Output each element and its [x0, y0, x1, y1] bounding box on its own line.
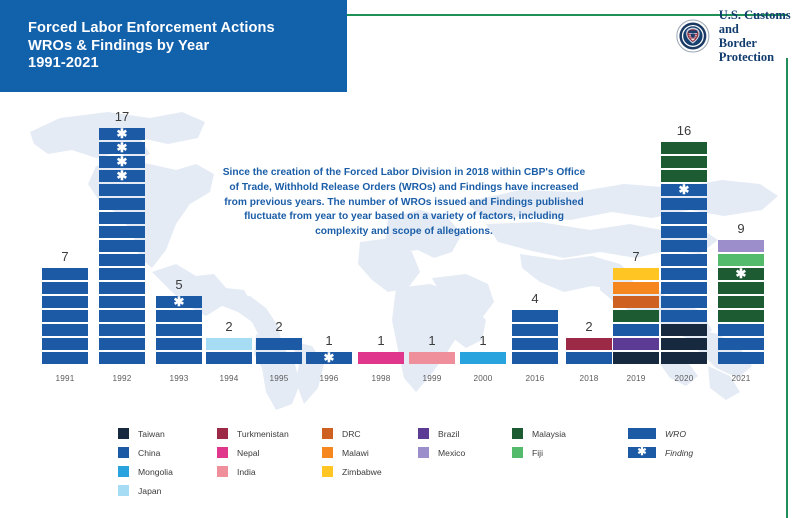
segment-stack-1995 — [256, 338, 302, 364]
column-total-1995: 2 — [275, 320, 282, 333]
segment-china-wro[interactable] — [156, 324, 202, 336]
segment-china-wro[interactable] — [99, 310, 145, 322]
legend-swatch-brazil — [418, 428, 429, 439]
segment-china-wro[interactable] — [99, 254, 145, 266]
column-total-2018: 2 — [585, 320, 592, 333]
segment-china-wro[interactable] — [156, 352, 202, 364]
segment-malaysia-wro[interactable] — [661, 142, 707, 154]
column-total-2019: 7 — [632, 250, 639, 263]
year-label-2018: 2018 — [566, 374, 612, 383]
year-column-1999[interactable]: 1 — [409, 334, 455, 364]
segment-china-wro[interactable] — [42, 324, 88, 336]
column-total-2016: 4 — [531, 292, 538, 305]
year-column-1995[interactable]: 2 — [256, 320, 302, 364]
segment-drc-wro[interactable] — [613, 296, 659, 308]
segment-china-wro[interactable] — [661, 254, 707, 266]
legend-label-turkmenistan: Turkmenistan — [237, 429, 289, 439]
finding-asterisk-icon: ✱ — [99, 128, 145, 140]
legend-swatch-china — [118, 447, 129, 458]
year-column-2000[interactable]: 1 — [460, 334, 506, 364]
legend-label-mexico: Mexico — [438, 448, 465, 458]
legend-label-taiwan: Taiwan — [138, 429, 165, 439]
legend-item-turkmenistan[interactable]: Turkmenistan — [217, 424, 289, 443]
segment-japan-wro[interactable] — [206, 338, 252, 350]
finding-asterisk-icon: ✱ — [99, 170, 145, 182]
legend-label-india: India — [237, 467, 256, 477]
segment-malawi-wro[interactable] — [613, 282, 659, 294]
segment-china-wro[interactable] — [99, 226, 145, 238]
legend-column-4: BrazilMexico — [418, 424, 465, 462]
year-label-1995: 1995 — [256, 374, 302, 383]
segment-mongolia-wro[interactable] — [460, 352, 506, 364]
legend-item-malawi[interactable]: Malawi — [322, 443, 382, 462]
column-total-1994: 2 — [225, 320, 232, 333]
legend-item-brazil[interactable]: Brazil — [418, 424, 465, 443]
segment-stack-2020: ✱ — [661, 142, 707, 364]
segment-china-wro[interactable] — [256, 338, 302, 350]
segment-china-wro[interactable] — [99, 324, 145, 336]
segment-malaysia-wro[interactable] — [718, 310, 764, 322]
legend-item-mongolia[interactable]: Mongolia — [118, 462, 173, 481]
legend-label-malaysia: Malaysia — [532, 429, 566, 439]
segment-china-finding[interactable]: ✱ — [306, 352, 352, 364]
legend-label-brazil: Brazil — [438, 429, 460, 439]
year-column-1998[interactable]: 1 — [358, 334, 404, 364]
segment-china-wro[interactable] — [99, 282, 145, 294]
column-total-1998: 1 — [377, 334, 384, 347]
legend-item-japan[interactable]: Japan — [118, 481, 173, 500]
segment-china-wro[interactable] — [512, 310, 558, 322]
year-column-2020[interactable]: 16✱ — [661, 124, 707, 364]
year-label-2021: 2021 — [718, 374, 764, 383]
segment-china-wro[interactable] — [512, 324, 558, 336]
finding-asterisk-icon: ✱ — [156, 296, 202, 308]
segment-nepal-wro[interactable] — [358, 352, 404, 364]
year-label-1999: 1999 — [409, 374, 455, 383]
year-label-2016: 2016 — [512, 374, 558, 383]
segment-mexico-wro[interactable] — [718, 240, 764, 252]
year-label-1991: 1991 — [42, 374, 88, 383]
year-column-1993[interactable]: 5✱ — [156, 278, 202, 364]
segment-malaysia-wro[interactable] — [718, 296, 764, 308]
legend-label-zimbabwe: Zimbabwe — [342, 467, 382, 477]
page-title: Forced Labor Enforcement Actions WROs & … — [28, 20, 275, 73]
segment-china-wro[interactable] — [661, 212, 707, 224]
legend-swatch-mongolia — [118, 466, 129, 477]
segment-china-wro[interactable] — [156, 310, 202, 322]
segment-china-wro[interactable] — [661, 198, 707, 210]
segment-china-wro[interactable] — [99, 184, 145, 196]
segment-china-wro[interactable] — [661, 268, 707, 280]
segment-stack-2000 — [460, 352, 506, 364]
legend-swatch-india — [217, 466, 228, 477]
year-column-2019[interactable]: 7 — [613, 250, 659, 364]
year-column-1991[interactable]: 7 — [42, 250, 88, 364]
column-total-1991: 7 — [61, 250, 68, 263]
legend-swatch-turkmenistan — [217, 428, 228, 439]
legend-label-fiji: Fiji — [532, 448, 543, 458]
legend-swatch-wro — [628, 428, 656, 439]
segment-stack-1991 — [42, 268, 88, 364]
segment-china-wro[interactable] — [661, 240, 707, 252]
segment-china-wro[interactable] — [99, 198, 145, 210]
column-total-2000: 1 — [479, 334, 486, 347]
segment-malaysia-wro[interactable] — [718, 282, 764, 294]
segment-china-wro[interactable] — [512, 338, 558, 350]
segment-taiwan-wro[interactable] — [661, 338, 707, 350]
year-label-1998: 1998 — [358, 374, 404, 383]
legend-label-japan: Japan — [138, 486, 161, 496]
legend-item-zimbabwe[interactable]: Zimbabwe — [322, 462, 382, 481]
segment-china-wro[interactable] — [99, 240, 145, 252]
segment-china-wro[interactable] — [718, 324, 764, 336]
legend-column-2: TurkmenistanNepalIndia — [217, 424, 289, 481]
title-block: Forced Labor Enforcement Actions WROs & … — [0, 0, 347, 92]
segment-china-wro[interactable] — [206, 352, 252, 364]
finding-asterisk-icon: ✱ — [718, 268, 764, 280]
year-label-1992: 1992 — [99, 374, 145, 383]
segment-stack-2019 — [613, 268, 659, 364]
callout-text: Since the creation of the Forced Labor D… — [218, 166, 590, 240]
legend-item-china[interactable]: China — [118, 443, 173, 462]
segment-taiwan-wro[interactable] — [613, 352, 659, 364]
segment-china-finding[interactable]: ✱ — [99, 128, 145, 140]
segment-china-wro[interactable] — [99, 338, 145, 350]
legend-item-finding[interactable]: ✱Finding — [628, 443, 693, 462]
cbp-logo: U.S. Customs and Border Protection — [676, 8, 800, 64]
legend-swatch-fiji — [512, 447, 523, 458]
green-rule-right — [786, 58, 788, 518]
segment-taiwan-wro[interactable] — [661, 324, 707, 336]
segment-china-wro[interactable] — [613, 324, 659, 336]
segment-zimbabwe-wro[interactable] — [613, 268, 659, 280]
cbp-wordmark: U.S. Customs and Border Protection — [719, 8, 800, 64]
segment-china-wro[interactable] — [718, 352, 764, 364]
segment-china-finding[interactable]: ✱ — [661, 184, 707, 196]
segment-china-wro[interactable] — [42, 282, 88, 294]
finding-asterisk-icon: ✱ — [99, 156, 145, 168]
segment-stack-1994 — [206, 338, 252, 364]
segment-stack-2016 — [512, 310, 558, 364]
year-column-1996[interactable]: 1✱ — [306, 334, 352, 364]
segment-china-wro[interactable] — [42, 296, 88, 308]
chart-legend: TaiwanChinaMongoliaJapanTurkmenistanNepa… — [0, 424, 800, 504]
finding-asterisk-icon: ✱ — [306, 352, 352, 364]
segment-stack-1999 — [409, 352, 455, 364]
year-label-2020: 2020 — [661, 374, 707, 383]
segment-stack-1993: ✱ — [156, 296, 202, 364]
segment-turkmenistan-wro[interactable] — [566, 338, 612, 350]
segment-china-finding[interactable]: ✱ — [156, 296, 202, 308]
legend-column-3: DRCMalawiZimbabwe — [322, 424, 382, 481]
year-label-2019: 2019 — [613, 374, 659, 383]
year-column-2016[interactable]: 4 — [512, 292, 558, 364]
segment-malaysia-finding[interactable]: ✱ — [718, 268, 764, 280]
legend-label-finding: Finding — [665, 448, 693, 458]
segment-china-wro[interactable] — [99, 296, 145, 308]
legend-label-nepal: Nepal — [237, 448, 259, 458]
legend-item-taiwan[interactable]: Taiwan — [118, 424, 173, 443]
segment-taiwan-wro[interactable] — [661, 352, 707, 364]
year-label-2000: 2000 — [460, 374, 506, 383]
legend-label-china: China — [138, 448, 160, 458]
segment-china-wro[interactable] — [99, 268, 145, 280]
column-total-2020: 16 — [677, 124, 691, 137]
finding-asterisk-icon: ✱ — [628, 447, 656, 458]
segment-china-finding[interactable]: ✱ — [99, 156, 145, 168]
legend-swatch-nepal — [217, 447, 228, 458]
year-column-1994[interactable]: 2 — [206, 320, 252, 364]
segment-stack-1992: ✱✱✱✱ — [99, 128, 145, 364]
column-total-1999: 1 — [428, 334, 435, 347]
legend-swatch-drc — [322, 428, 333, 439]
legend-swatch-mexico — [418, 447, 429, 458]
legend-item-drc[interactable]: DRC — [322, 424, 382, 443]
segment-stack-2018 — [566, 338, 612, 364]
column-total-1992: 17 — [115, 110, 129, 123]
legend-item-malaysia[interactable]: Malaysia — [512, 424, 566, 443]
legend-item-wro[interactable]: WRO — [628, 424, 693, 443]
legend-item-fiji[interactable]: Fiji — [512, 443, 566, 462]
legend-item-nepal[interactable]: Nepal — [217, 443, 289, 462]
infographic-canvas: Forced Labor Enforcement Actions WROs & … — [0, 0, 800, 518]
segment-stack-1996: ✱ — [306, 352, 352, 364]
column-total-1993: 5 — [175, 278, 182, 291]
segment-china-wro[interactable] — [256, 352, 302, 364]
legend-swatch-japan — [118, 485, 129, 496]
segment-china-wro[interactable] — [42, 310, 88, 322]
year-column-1992[interactable]: 17✱✱✱✱ — [99, 110, 145, 364]
legend-swatch-taiwan — [118, 428, 129, 439]
legend-column-5: MalaysiaFiji — [512, 424, 566, 462]
segment-brazil-wro[interactable] — [613, 338, 659, 350]
year-column-2018[interactable]: 2 — [566, 320, 612, 364]
segment-china-wro[interactable] — [42, 268, 88, 280]
column-total-1996: 1 — [325, 334, 332, 347]
segment-china-wro[interactable] — [661, 282, 707, 294]
segment-china-wro[interactable] — [99, 352, 145, 364]
segment-malaysia-wro[interactable] — [661, 156, 707, 168]
column-total-2021: 9 — [737, 222, 744, 235]
segment-china-wro[interactable] — [42, 338, 88, 350]
legend-label-drc: DRC — [342, 429, 361, 439]
segment-china-wro[interactable] — [718, 338, 764, 350]
legend-label-wro: WRO — [665, 429, 686, 439]
legend-item-india[interactable]: India — [217, 462, 289, 481]
segment-china-wro[interactable] — [566, 352, 612, 364]
finding-asterisk-icon: ✱ — [661, 184, 707, 196]
segment-china-wro[interactable] — [661, 296, 707, 308]
finding-asterisk-icon: ✱ — [99, 142, 145, 154]
segment-stack-1998 — [358, 352, 404, 364]
legend-swatch-malawi — [322, 447, 333, 458]
legend-swatch-malaysia — [512, 428, 523, 439]
segment-stack-2021: ✱ — [718, 240, 764, 364]
legend-column-1: TaiwanChinaMongoliaJapan — [118, 424, 173, 500]
segment-malaysia-wro[interactable] — [613, 310, 659, 322]
segment-india-wro[interactable] — [409, 352, 455, 364]
segment-china-wro[interactable] — [42, 352, 88, 364]
segment-china-wro[interactable] — [661, 310, 707, 322]
segment-china-wro[interactable] — [512, 352, 558, 364]
legend-swatch-finding: ✱ — [628, 447, 656, 458]
segment-fiji-wro[interactable] — [718, 254, 764, 266]
segment-china-wro[interactable] — [99, 212, 145, 224]
segment-china-wro[interactable] — [156, 338, 202, 350]
year-label-1996: 1996 — [306, 374, 352, 383]
legend-label-mongolia: Mongolia — [138, 467, 173, 477]
year-column-2021[interactable]: 9✱ — [718, 222, 764, 364]
segment-china-finding[interactable]: ✱ — [99, 142, 145, 154]
segment-malaysia-wro[interactable] — [661, 170, 707, 182]
cbp-seal-icon — [676, 16, 710, 56]
year-label-1993: 1993 — [156, 374, 202, 383]
legend-item-mexico[interactable]: Mexico — [418, 443, 465, 462]
legend-swatch-zimbabwe — [322, 466, 333, 477]
year-label-1994: 1994 — [206, 374, 252, 383]
segment-china-finding[interactable]: ✱ — [99, 170, 145, 182]
legend-label-malawi: Malawi — [342, 448, 369, 458]
legend-column-6: WRO✱Finding — [628, 424, 693, 462]
segment-china-wro[interactable] — [661, 226, 707, 238]
